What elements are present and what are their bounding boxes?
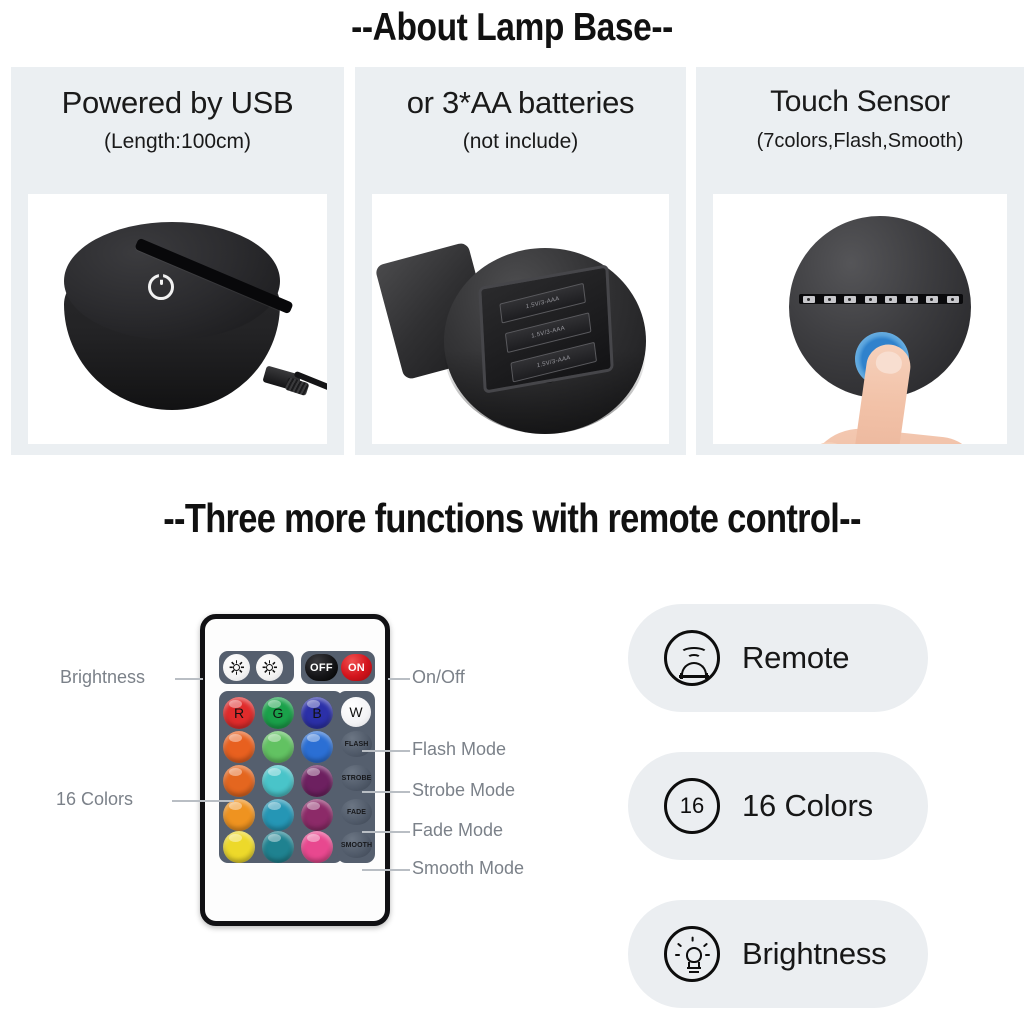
sun-glyph xyxy=(262,660,277,675)
leader-line xyxy=(362,791,410,793)
color-button[interactable] xyxy=(262,731,294,763)
callout-strobe-mode: Strobe Mode xyxy=(412,780,515,801)
card-subtitle: (Length:100cm) xyxy=(11,130,344,154)
feature-pill-label: Remote xyxy=(742,640,849,676)
white-color-button[interactable]: W xyxy=(341,697,371,727)
led-chip xyxy=(926,296,938,303)
color-button-label: R xyxy=(234,705,244,721)
callout-smooth-mode: Smooth Mode xyxy=(412,858,524,879)
page-title-remote-functions: --Three more functions with remote contr… xyxy=(82,495,942,542)
lamp-base-top xyxy=(64,222,280,340)
color-button[interactable] xyxy=(301,765,333,797)
callout-flash-mode: Flash Mode xyxy=(412,739,506,760)
callout-16-colors: 16 Colors xyxy=(56,789,133,810)
color-button-label: B xyxy=(312,705,321,721)
remote-signal-icon xyxy=(664,630,720,686)
card-aa-batteries: or 3*AA batteries (not include) 1.5V/3-A… xyxy=(355,67,686,455)
card-title: or 3*AA batteries xyxy=(355,85,686,121)
card-touch-sensor: Touch Sensor (7colors,Flash,Smooth) xyxy=(696,67,1024,455)
feature-pill-remote[interactable]: Remote xyxy=(628,604,928,712)
card-title: Powered by USB xyxy=(11,85,344,121)
mode-button-fade[interactable]: FADE xyxy=(341,799,372,825)
color-button[interactable] xyxy=(223,765,255,797)
power-icon xyxy=(148,274,174,300)
lightbulb-icon xyxy=(664,926,720,982)
feature-pill-label: 16 Colors xyxy=(742,788,873,824)
color-button[interactable] xyxy=(301,799,333,831)
mode-button-smooth[interactable]: SMOOTH xyxy=(341,832,372,858)
color-button[interactable] xyxy=(262,831,294,863)
led-chip xyxy=(885,296,897,303)
page-title-about-lamp-base: --About Lamp Base-- xyxy=(72,6,953,50)
led-chip xyxy=(803,296,815,303)
sixteen-badge-icon: 16 xyxy=(664,778,720,834)
remote-control: OFF ON RGB W FLASHSTROBEFADESMOOTH xyxy=(200,614,390,926)
color-button[interactable] xyxy=(301,831,333,863)
infographic-page: --About Lamp Base-- Powered by USB (Leng… xyxy=(0,0,1024,1024)
card-powered-by-usb: Powered by USB (Length:100cm) xyxy=(11,67,344,455)
on-button[interactable]: ON xyxy=(341,654,372,681)
sixteen-badge-text: 16 xyxy=(667,781,717,831)
callout-on-off: On/Off xyxy=(412,667,465,688)
color-button[interactable]: G xyxy=(262,697,294,729)
color-button[interactable] xyxy=(223,799,255,831)
led-strip xyxy=(799,294,963,304)
feature-pill-brightness[interactable]: Brightness xyxy=(628,900,928,1008)
led-chip xyxy=(865,296,877,303)
led-chip xyxy=(844,296,856,303)
color-button[interactable] xyxy=(301,731,333,763)
card-title: Touch Sensor xyxy=(696,85,1024,119)
brightness-up-icon[interactable] xyxy=(256,654,283,681)
leader-line xyxy=(172,800,234,802)
color-button[interactable] xyxy=(262,799,294,831)
touch-sensor-photo xyxy=(713,194,1007,444)
leader-line xyxy=(362,831,410,833)
leader-line xyxy=(362,750,410,752)
led-chip xyxy=(947,296,959,303)
card-subtitle: (7colors,Flash,Smooth) xyxy=(696,130,1024,153)
off-button[interactable]: OFF xyxy=(305,654,338,681)
callout-brightness: Brightness xyxy=(60,667,145,688)
leader-line xyxy=(175,678,203,680)
mode-button-strobe[interactable]: STROBE xyxy=(341,765,372,791)
mode-button-flash[interactable]: FLASH xyxy=(341,731,372,757)
callout-fade-mode: Fade Mode xyxy=(412,820,503,841)
card-subtitle: (not include) xyxy=(355,130,686,154)
led-chip xyxy=(906,296,918,303)
color-button-label: G xyxy=(273,705,284,721)
brightness-down-icon[interactable] xyxy=(223,654,250,681)
led-chip xyxy=(824,296,836,303)
color-button[interactable]: B xyxy=(301,697,333,729)
color-button[interactable] xyxy=(223,731,255,763)
battery-well: 1.5V/3-AAA 1.5V/3-AAA 1.5V/3-AAA xyxy=(478,264,614,394)
color-button[interactable] xyxy=(262,765,294,797)
battery-compartment-photo: 1.5V/3-AAA 1.5V/3-AAA 1.5V/3-AAA xyxy=(372,194,669,444)
feature-pill-label: Brightness xyxy=(742,936,886,972)
feature-pill-16-colors[interactable]: 16 16 Colors xyxy=(628,752,928,860)
usb-lamp-base-photo xyxy=(28,194,327,444)
leader-line xyxy=(388,678,410,680)
color-button[interactable]: R xyxy=(223,697,255,729)
leader-line xyxy=(362,869,410,871)
sun-glyph xyxy=(229,660,244,675)
color-button[interactable] xyxy=(223,831,255,863)
